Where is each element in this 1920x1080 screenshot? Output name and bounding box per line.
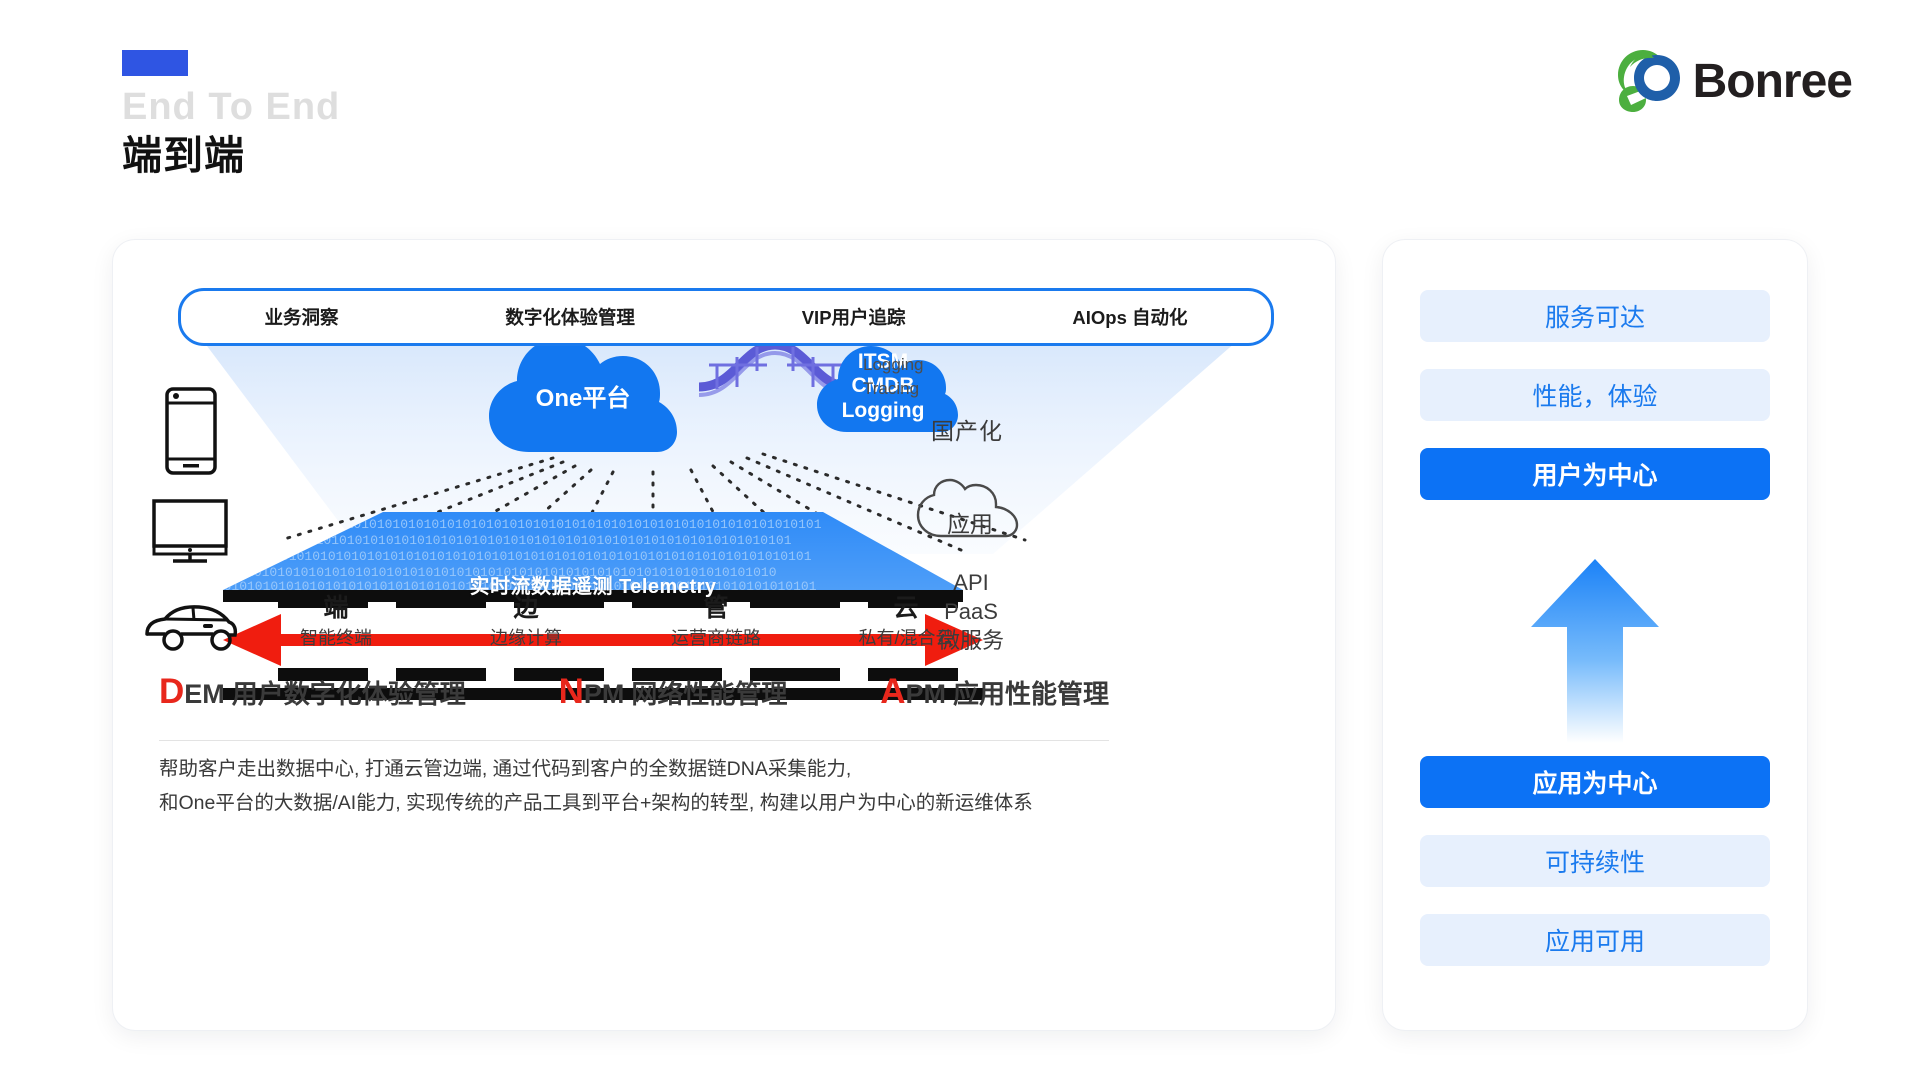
page-title-chinese: 端到端 [122,134,340,178]
pillar-card-label-2: 用户为中心 [1532,456,1657,492]
footer-line-2: 和One平台的大数据/AI能力, 实现传统的产品工具到平台+架构的转型, 构建以… [159,786,1119,820]
layer-title-1: 边 [431,595,621,623]
car-icon [141,600,239,654]
pill-item-0[interactable]: 业务洞察 [264,304,338,330]
pillar-card-app-availability[interactable]: 应用可用 [1420,914,1770,966]
pillar-card-app-centric[interactable]: 应用为中心 [1420,756,1770,808]
layer-sub-1: 边缘计算 [431,628,621,650]
acronym-dem-rest: EM [184,679,225,709]
layer-sub-3: 私有/混合云 [811,628,1001,650]
brand-name: Bonree [1693,58,1852,106]
footer-divider [159,740,1109,741]
phone-icon [163,385,219,477]
layer-sub-2: 运营商链路 [621,628,811,650]
layer-sub-0: 智能终端 [241,628,431,650]
footer-line-1: 帮助客户走出数据中心, 打通云管边端, 通过代码到客户的全数据链DNA采集能力, [159,752,1119,786]
localization-label: 国产化 [931,412,1003,446]
acronym-dem-cap: D [159,672,184,711]
product-acronyms: DEM用户数字化体验管理 NPM网络性能管理 APM应用性能管理 [159,672,1109,712]
brand-logo: Bonree [1613,46,1852,117]
acronym-apm: APM应用性能管理 [880,672,1109,712]
page-header: End To End 端到端 [122,50,340,178]
footer-description: 帮助客户走出数据中心, 打通云管边端, 通过代码到客户的全数据链DNA采集能力,… [159,752,1119,820]
signal-tracing: Tracing [863,377,924,402]
diagram-panel: 业务洞察 数字化体验管理 VIP用户追踪 AIOps 自动化 [113,240,1335,1030]
pill-item-1[interactable]: 数字化体验管理 [505,304,635,330]
pillar-card-service-reachability[interactable]: 服务可达 [1420,290,1770,342]
signal-logging: Logging [863,353,924,378]
acronym-npm: NPM网络性能管理 [559,672,788,712]
acronym-apm-rest: PM [905,679,946,709]
svg-text:101010010101010101010101010101: 1010100101010101010101010101010101010101… [223,533,792,548]
acronym-dem-cn: 用户数字化体验管理 [232,679,466,709]
pillar-card-label-0: 服务可达 [1545,298,1645,334]
page-title-english: End To End [122,88,340,128]
one-platform-cloud-label: One平台 [483,385,683,413]
svg-text:010101010101010101010101010101: 0101010101010101010101010101010101010101… [223,517,822,532]
acronym-npm-rest: PM [584,679,625,709]
value-pillars-panel: 服务可达 性能，体验 用户为中心 应用为中心 可持续性 应用可用 [1383,240,1807,1030]
layer-column-3: 云 私有/混合云 [811,595,1001,649]
pillar-card-sustainability[interactable]: 可持续性 [1420,835,1770,887]
layer-column-0: 端 智能终端 [241,595,431,649]
layer-columns: 端 智能终端 边 边缘计算 管 运营商链路 云 私有/混合云 [241,595,1001,649]
acronym-apm-cap: A [880,672,905,711]
acronym-npm-cn: 网络性能管理 [631,679,787,709]
layer-column-1: 边 边缘计算 [431,595,621,649]
diagram-stage: 业务洞察 数字化体验管理 VIP用户追踪 AIOps 自动化 [113,240,1335,1030]
acronym-npm-cap: N [559,672,584,711]
layer-column-2: 管 运营商链路 [621,595,811,649]
monitor-icon [151,498,229,564]
pillar-card-user-centric[interactable]: 用户为中心 [1420,448,1770,500]
telemetry-label: 实时流数据遥测 Telemetry [223,570,963,599]
up-arrow-icon [1526,555,1664,745]
svg-text:010101010101010101010101010101: 0101010101010101010101010101010101010101… [223,549,812,564]
layer-title-3: 云 [811,595,1001,623]
header-accent-bar [122,50,188,76]
acronym-apm-cn: 应用性能管理 [953,679,1109,709]
pill-item-3[interactable]: AIOps 自动化 [1072,304,1187,330]
pillar-card-performance-experience[interactable]: 性能，体验 [1420,369,1770,421]
layer-title-2: 管 [621,595,811,623]
capability-pill-bar[interactable]: 业务洞察 数字化体验管理 VIP用户追踪 AIOps 自动化 [178,288,1274,346]
pill-item-2[interactable]: VIP用户追踪 [802,304,906,330]
pillar-card-label-3: 应用为中心 [1532,764,1657,800]
pillar-card-label-4: 可持续性 [1545,843,1645,879]
bonree-swirl-mark-icon [1613,46,1687,117]
application-cloud-label: 应用 [915,505,1025,539]
pillar-card-label-5: 应用可用 [1545,922,1645,958]
layer-title-0: 端 [241,595,431,623]
pillar-card-label-1: 性能，体验 [1532,377,1657,413]
acronym-dem: DEM用户数字化体验管理 [159,672,466,712]
